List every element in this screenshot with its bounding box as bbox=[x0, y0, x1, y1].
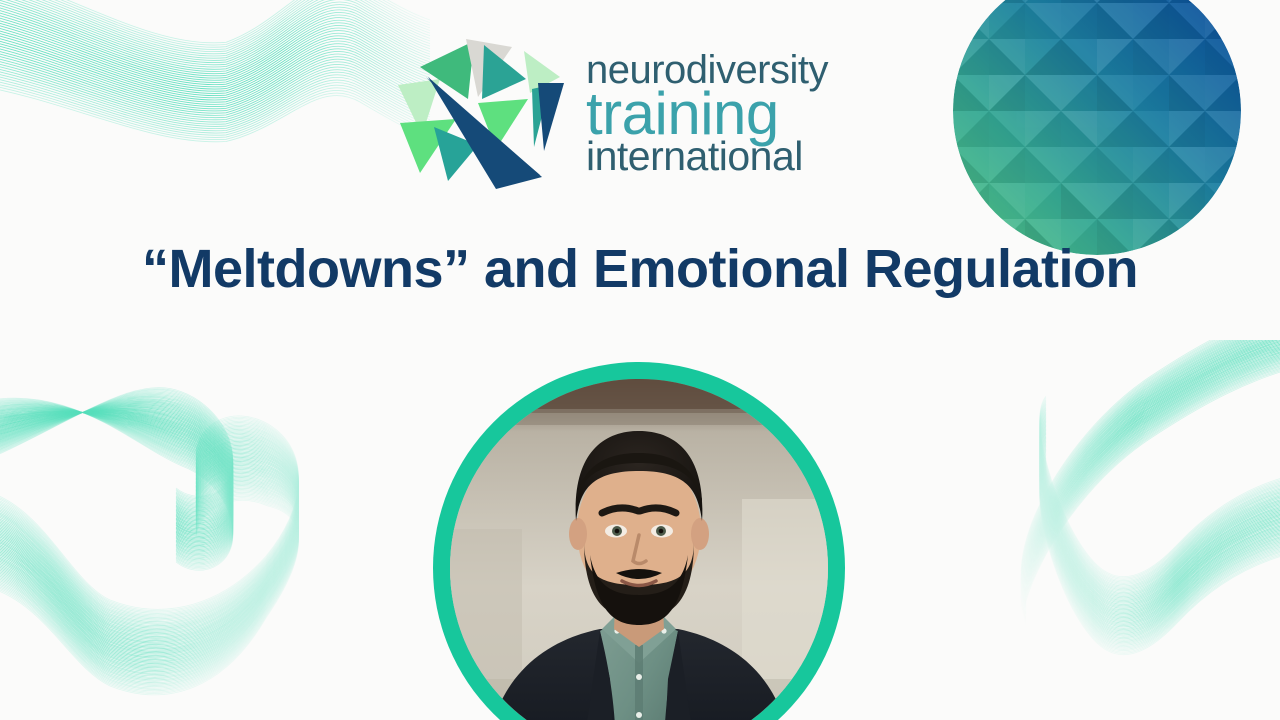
wave-bottom-left bbox=[0, 388, 299, 695]
logo-mark-icon bbox=[392, 27, 570, 197]
brand-wordmark: neurodiversity training international bbox=[586, 48, 828, 175]
speaker-portrait-ring bbox=[433, 362, 845, 720]
speaker-portrait-photo bbox=[450, 379, 828, 720]
wave-top-left bbox=[0, 0, 430, 142]
wave-bottom-right bbox=[1021, 300, 1280, 656]
faceted-gradient-sphere bbox=[953, 0, 1241, 255]
slide-headline: “Meltdowns” and Emotional Regulation bbox=[0, 238, 1280, 300]
brand-logo-lockup: neurodiversity training international bbox=[392, 22, 872, 202]
wordmark-line-international: international bbox=[586, 137, 828, 175]
